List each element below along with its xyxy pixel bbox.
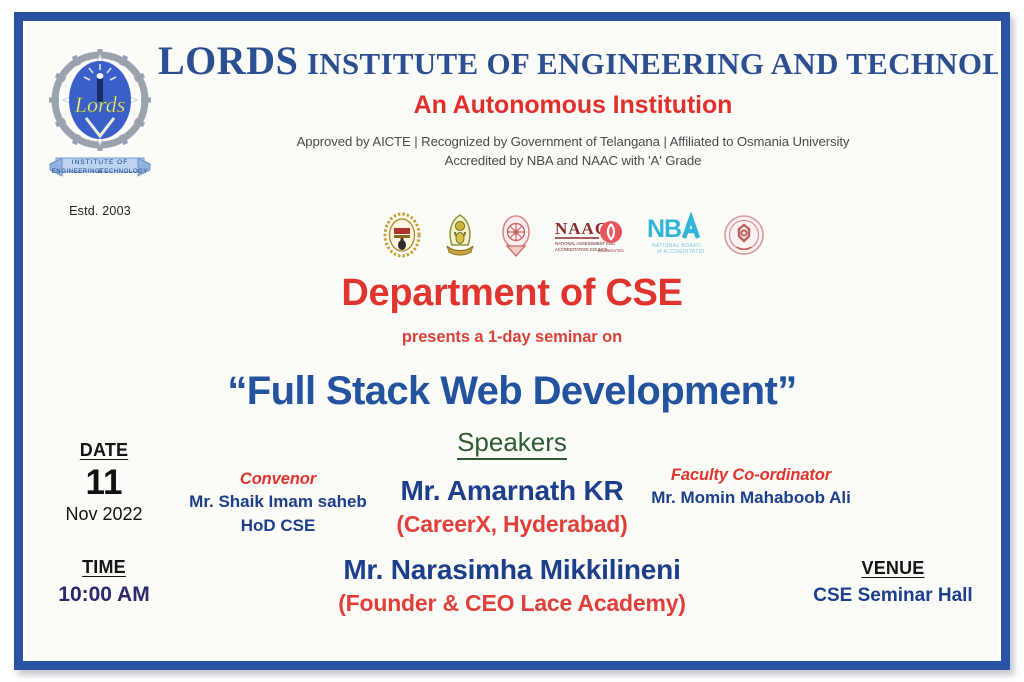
speaker-entry: Mr. Narasimha Mikkilineni (Founder & CEO… <box>277 554 747 617</box>
approval-line-2: Accredited by NBA and NAAC with 'A' Grad… <box>158 151 988 171</box>
poster-content-area: Lords INSTITUTE OF ENGINEERING <box>23 21 1001 661</box>
svg-text:NAAC: NAAC <box>555 219 608 238</box>
institute-name-lead: LORDS <box>158 38 298 83</box>
speakers-heading: Speakers <box>457 428 567 460</box>
aicte-logo <box>382 212 422 258</box>
svg-text:ACCREDITED: ACCREDITED <box>597 248 623 253</box>
date-label: DATE <box>34 440 174 461</box>
speaker-affiliation: (CareerX, Hyderabad) <box>277 511 747 538</box>
svg-text:NB: NB <box>647 215 681 243</box>
department-title: Department of CSE <box>26 272 998 315</box>
institute-name: LORDS INSTITUTE OF ENGINEERING AND TECHN… <box>158 40 988 82</box>
svg-text:ENGINEERING: ENGINEERING <box>52 169 101 175</box>
autonomous-status: An Autonomous Institution <box>158 91 988 120</box>
speaker-name: Mr. Amarnath KR <box>277 475 747 507</box>
speakers-block: Speakers Mr. Amarnath KR (CareerX, Hyder… <box>277 428 747 617</box>
approval-lines: Approved by AICTE | Recognized by Govern… <box>158 132 988 172</box>
poster-details-section: DATE 11 Nov 2022 TIME 10:00 AM Convenor … <box>26 428 998 648</box>
ugc-logo <box>441 212 479 258</box>
naac-logo: NAAC NATIONAL ASSESSMENT AND ACCREDITATI… <box>553 212 625 258</box>
poster-blue-border: Lords INSTITUTE OF ENGINEERING <box>14 12 1010 670</box>
institute-logo-block: Lords INSTITUTE OF ENGINEERING <box>44 40 156 218</box>
seminar-poster: Lords INSTITUTE OF ENGINEERING <box>0 0 1024 682</box>
poster-header: Lords INSTITUTE OF ENGINEERING <box>26 24 998 254</box>
speaker-affiliation: (Founder & CEO Lace Academy) <box>277 590 747 617</box>
time-label: TIME <box>34 557 174 578</box>
svg-text:Lords: Lords <box>74 92 126 117</box>
telangana-emblem-logo <box>498 212 534 258</box>
venue-value: CSE Seminar Hall <box>798 585 988 607</box>
logo-established-year: Estd. 2003 <box>44 204 156 218</box>
time-block: TIME 10:00 AM <box>34 557 174 607</box>
osmania-university-logo <box>723 212 765 258</box>
svg-text:NATIONAL ASSESSMENT AND: NATIONAL ASSESSMENT AND <box>555 241 615 246</box>
nba-logo: NB NATIONAL BOARD of ACCREDITATION <box>644 212 704 258</box>
institute-name-rest: INSTITUTE OF ENGINEERING AND TECHNOLOGY <box>307 46 1001 81</box>
approval-line-1: Approved by AICTE | Recognized by Govern… <box>158 132 988 152</box>
svg-text:INSTITUTE OF: INSTITUTE OF <box>72 159 128 166</box>
time-value: 10:00 AM <box>34 583 174 607</box>
date-time-column: DATE 11 Nov 2022 TIME 10:00 AM <box>34 440 174 607</box>
speaker-name: Mr. Narasimha Mikkilineni <box>277 554 747 586</box>
date-day: 11 <box>34 465 174 502</box>
accreditation-logos: NAAC NATIONAL ASSESSMENT AND ACCREDITATI… <box>158 210 988 260</box>
seminar-title: “Full Stack Web Development” <box>26 369 998 414</box>
date-month-year: Nov 2022 <box>34 504 174 525</box>
lords-crest-logo: Lords INSTITUTE OF ENGINEERING <box>48 40 152 190</box>
speaker-entry: Mr. Amarnath KR (CareerX, Hyderabad) <box>277 475 747 538</box>
institute-header-text: LORDS INSTITUTE OF ENGINEERING AND TECHN… <box>158 40 988 171</box>
venue-column: VENUE CSE Seminar Hall <box>798 558 988 607</box>
svg-text:TECHNOLOGY: TECHNOLOGY <box>100 169 148 175</box>
lords-crest-svg: Lords INSTITUTE OF ENGINEERING <box>48 40 152 190</box>
presents-line: presents a 1-day seminar on <box>26 328 998 347</box>
svg-text:of ACCREDITATION: of ACCREDITATION <box>657 249 704 255</box>
venue-label: VENUE <box>798 558 988 579</box>
